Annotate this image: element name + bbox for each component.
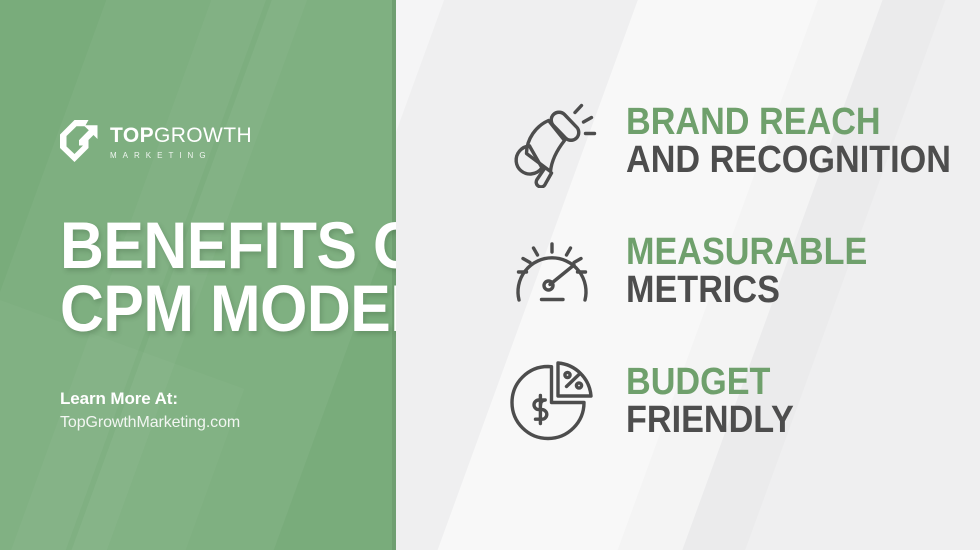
brand-logo: TOPGROWTH MARKETING [58,118,252,164]
benefit-dark-line: FRIENDLY [626,403,794,439]
benefit-item-budget-friendly: BUDGET FRIENDLY [506,356,813,448]
growth-arrow-g-icon [58,118,100,164]
logo-tagline: MARKETING [110,152,252,160]
benefit-dark-line: METRICS [626,273,867,309]
website-url[interactable]: TopGrowthMarketing.com [60,412,240,434]
megaphone-icon [506,96,598,188]
page-title: BENEFITS OF CPM MODEL [60,214,364,339]
benefit-accent-line: BUDGET [626,365,794,401]
brand-wordmark: TOPGROWTH MARKETING [110,122,252,160]
learn-more-block: Learn More At: TopGrowthMarketing.com [60,388,240,435]
benefit-item-measurable-metrics: MEASURABLE METRICS [506,226,894,318]
learn-more-label: Learn More At: [60,388,240,409]
logo-word-growth: GROWTH [154,125,252,146]
logo-word-top: TOP [110,125,154,146]
benefit-label-brand-reach: BRAND REACH AND RECOGNITION [626,105,951,178]
speedometer-gauge-icon [506,226,598,318]
left-green-panel: TOPGROWTH MARKETING BENEFITS OF CPM MODE… [0,0,396,550]
benefit-label-budget-friendly: BUDGET FRIENDLY [626,365,794,438]
benefit-label-measurable-metrics: MEASURABLE METRICS [626,235,867,308]
infographic-canvas: TOPGROWTH MARKETING BENEFITS OF CPM MODE… [0,0,980,550]
page-title-line-1: BENEFITS OF [60,214,364,277]
benefit-accent-line: BRAND REACH [626,105,951,141]
benefit-dark-line: AND RECOGNITION [626,143,951,179]
benefit-accent-line: MEASURABLE [626,235,867,271]
page-title-line-2: CPM MODEL [60,277,364,340]
benefit-item-brand-reach: BRAND REACH AND RECOGNITION [506,96,980,188]
pie-chart-dollar-percent-icon [506,356,598,448]
right-content-panel: BRAND REACH AND RECOGNITION [396,0,980,550]
